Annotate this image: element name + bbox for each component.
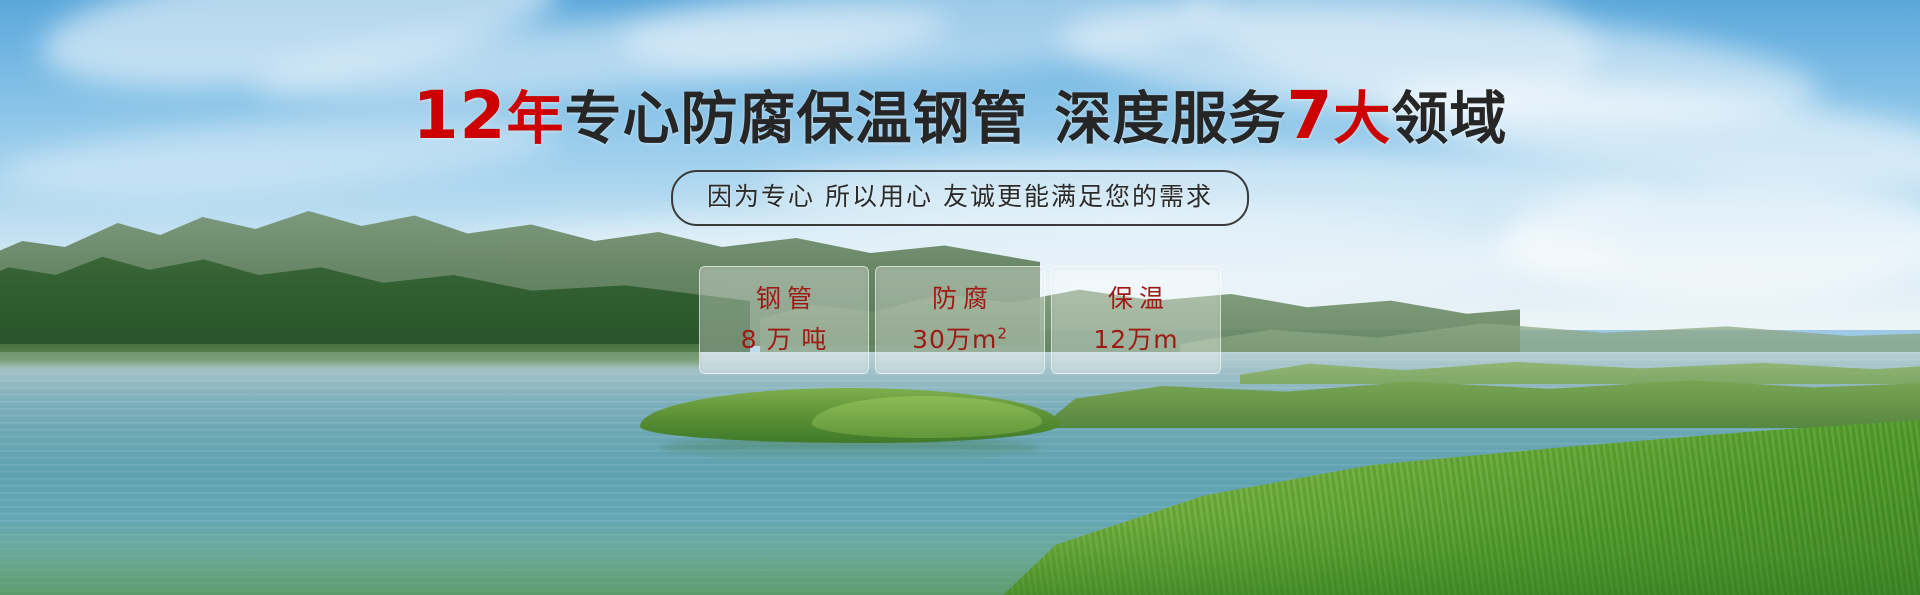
stat-card-value-main: 12万m (1093, 325, 1178, 354)
headline-years-unit: 年 (506, 86, 564, 152)
stat-card-value-main: 30万m (912, 325, 997, 354)
stat-card-steel-pipe[interactable]: 钢管 8 万 吨 (699, 266, 869, 374)
stat-card-label: 钢管 (750, 282, 818, 316)
headline-fields-unit: 大 (1333, 86, 1391, 152)
banner-content: 12年专心防腐保温钢管深度服务7大领域 因为专心 所以用心 友诚更能满足您的需求… (0, 0, 1920, 595)
headline-fields-number: 7 (1286, 77, 1333, 154)
stat-card-list: 钢管 8 万 吨 防腐 30万m2 保温 12万m (699, 266, 1221, 374)
headline-service-text: 深度服务 (1054, 86, 1286, 152)
stat-card-value: 8 万 吨 (741, 322, 828, 358)
headline-main-text: 专心防腐保温钢管 (564, 86, 1028, 152)
stat-card-label: 保温 (1102, 282, 1170, 316)
stat-card-insulation[interactable]: 保温 12万m (1051, 266, 1221, 374)
stat-card-value-main: 8 万 吨 (741, 325, 828, 354)
stat-card-value-superscript: 2 (997, 325, 1008, 343)
hero-banner: 12年专心防腐保温钢管深度服务7大领域 因为专心 所以用心 友诚更能满足您的需求… (0, 0, 1920, 595)
stat-card-label: 防腐 (926, 282, 994, 316)
stat-card-value: 30万m2 (912, 322, 1008, 358)
stat-card-anticorrosion[interactable]: 防腐 30万m2 (875, 266, 1045, 374)
stat-card-value: 12万m (1093, 322, 1178, 358)
banner-subtitle-pill: 因为专心 所以用心 友诚更能满足您的需求 (671, 170, 1249, 226)
headline-years-number: 12 (413, 77, 507, 154)
banner-headline: 12年专心防腐保温钢管深度服务7大领域 (0, 82, 1920, 153)
headline-fields-text: 领域 (1391, 86, 1507, 152)
